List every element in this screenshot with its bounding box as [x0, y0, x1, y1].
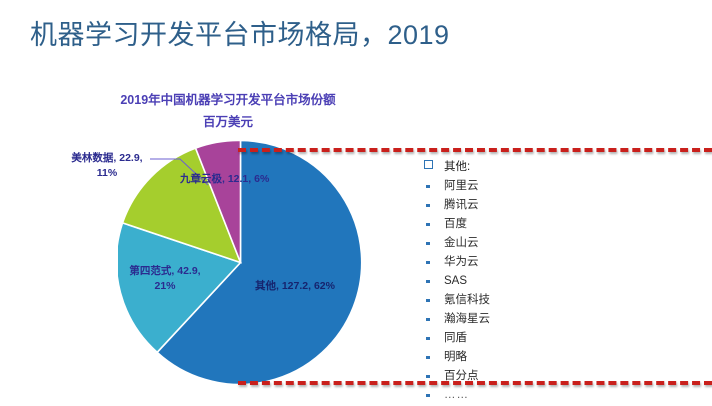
chart-subtitle: 百万美元	[88, 111, 368, 133]
list-item: 阿里云	[424, 177, 654, 196]
list-item-label: 百分点	[444, 367, 479, 386]
square-bullet-icon	[424, 242, 444, 246]
pie-label-meilin-line2: 11%	[97, 167, 117, 179]
list-item-label: 阿里云	[444, 177, 479, 196]
list-item-label: 瀚海星云	[444, 310, 490, 329]
square-bullet-icon	[424, 356, 444, 360]
list-item-label: 明略	[444, 348, 467, 367]
list-item: 明略	[424, 348, 654, 367]
list-item: 百分点	[424, 367, 654, 386]
list-item-label: 氪信科技	[444, 291, 490, 310]
list-item: SAS	[424, 272, 654, 291]
square-bullet-icon	[424, 375, 444, 379]
list-item-label: 同盾	[444, 329, 467, 348]
chart-title-block: 2019年中国机器学习开发平台市场份额 百万美元	[88, 89, 368, 133]
list-item: 百度	[424, 215, 654, 234]
square-bullet-icon	[424, 185, 444, 189]
pie-label-meilin-line1: 美林数据, 22.9,	[71, 152, 142, 164]
list-item-label: 华为云	[444, 253, 479, 272]
list-item-label: ……	[444, 386, 469, 405]
list-item-label: 百度	[444, 215, 467, 234]
list-item: 腾讯云	[424, 196, 654, 215]
square-bullet-icon	[424, 223, 444, 227]
list-item-label: 金山云	[444, 234, 479, 253]
square-bullet-icon	[424, 394, 444, 398]
pie-label-meilin: 美林数据, 22.9, 11%	[57, 151, 157, 181]
list-item-label: 腾讯云	[444, 196, 479, 215]
chart-title: 2019年中国机器学习开发平台市场份额	[120, 93, 335, 107]
square-bullet-icon	[424, 337, 444, 341]
pie-label-disifanshi: 第四范式, 42.9, 21%	[122, 264, 208, 294]
square-bullet-icon	[424, 299, 444, 303]
page-title: 机器学习开发平台市场格局，2019	[30, 17, 450, 53]
list-item: 瀚海星云	[424, 310, 654, 329]
pie-label-jiuzhang: 九章云极, 12.1, 6%	[180, 172, 269, 187]
square-hollow-icon	[424, 160, 444, 169]
list-item: 同盾	[424, 329, 654, 348]
list-item: 华为云	[424, 253, 654, 272]
list-item-label: SAS	[444, 272, 467, 291]
square-bullet-icon	[424, 261, 444, 265]
callout-dashed-line-top	[238, 148, 712, 152]
pie-label-qita: 其他, 127.2, 62%	[255, 279, 335, 294]
square-bullet-icon	[424, 280, 444, 284]
square-bullet-icon	[424, 204, 444, 208]
list-item: 氪信科技	[424, 291, 654, 310]
list-header-label: 其他:	[444, 158, 470, 177]
other-vendors-list: 其他: 阿里云 腾讯云 百度 金山云 华为云 SAS 氪信科技 瀚海星云 同盾 …	[424, 158, 654, 405]
list-item-header: 其他:	[424, 158, 654, 177]
pie-label-disifanshi-line1: 第四范式, 42.9,	[129, 265, 200, 277]
list-item: ……	[424, 386, 654, 405]
square-bullet-icon	[424, 318, 444, 322]
list-item: 金山云	[424, 234, 654, 253]
pie-label-disifanshi-line2: 21%	[154, 280, 175, 292]
